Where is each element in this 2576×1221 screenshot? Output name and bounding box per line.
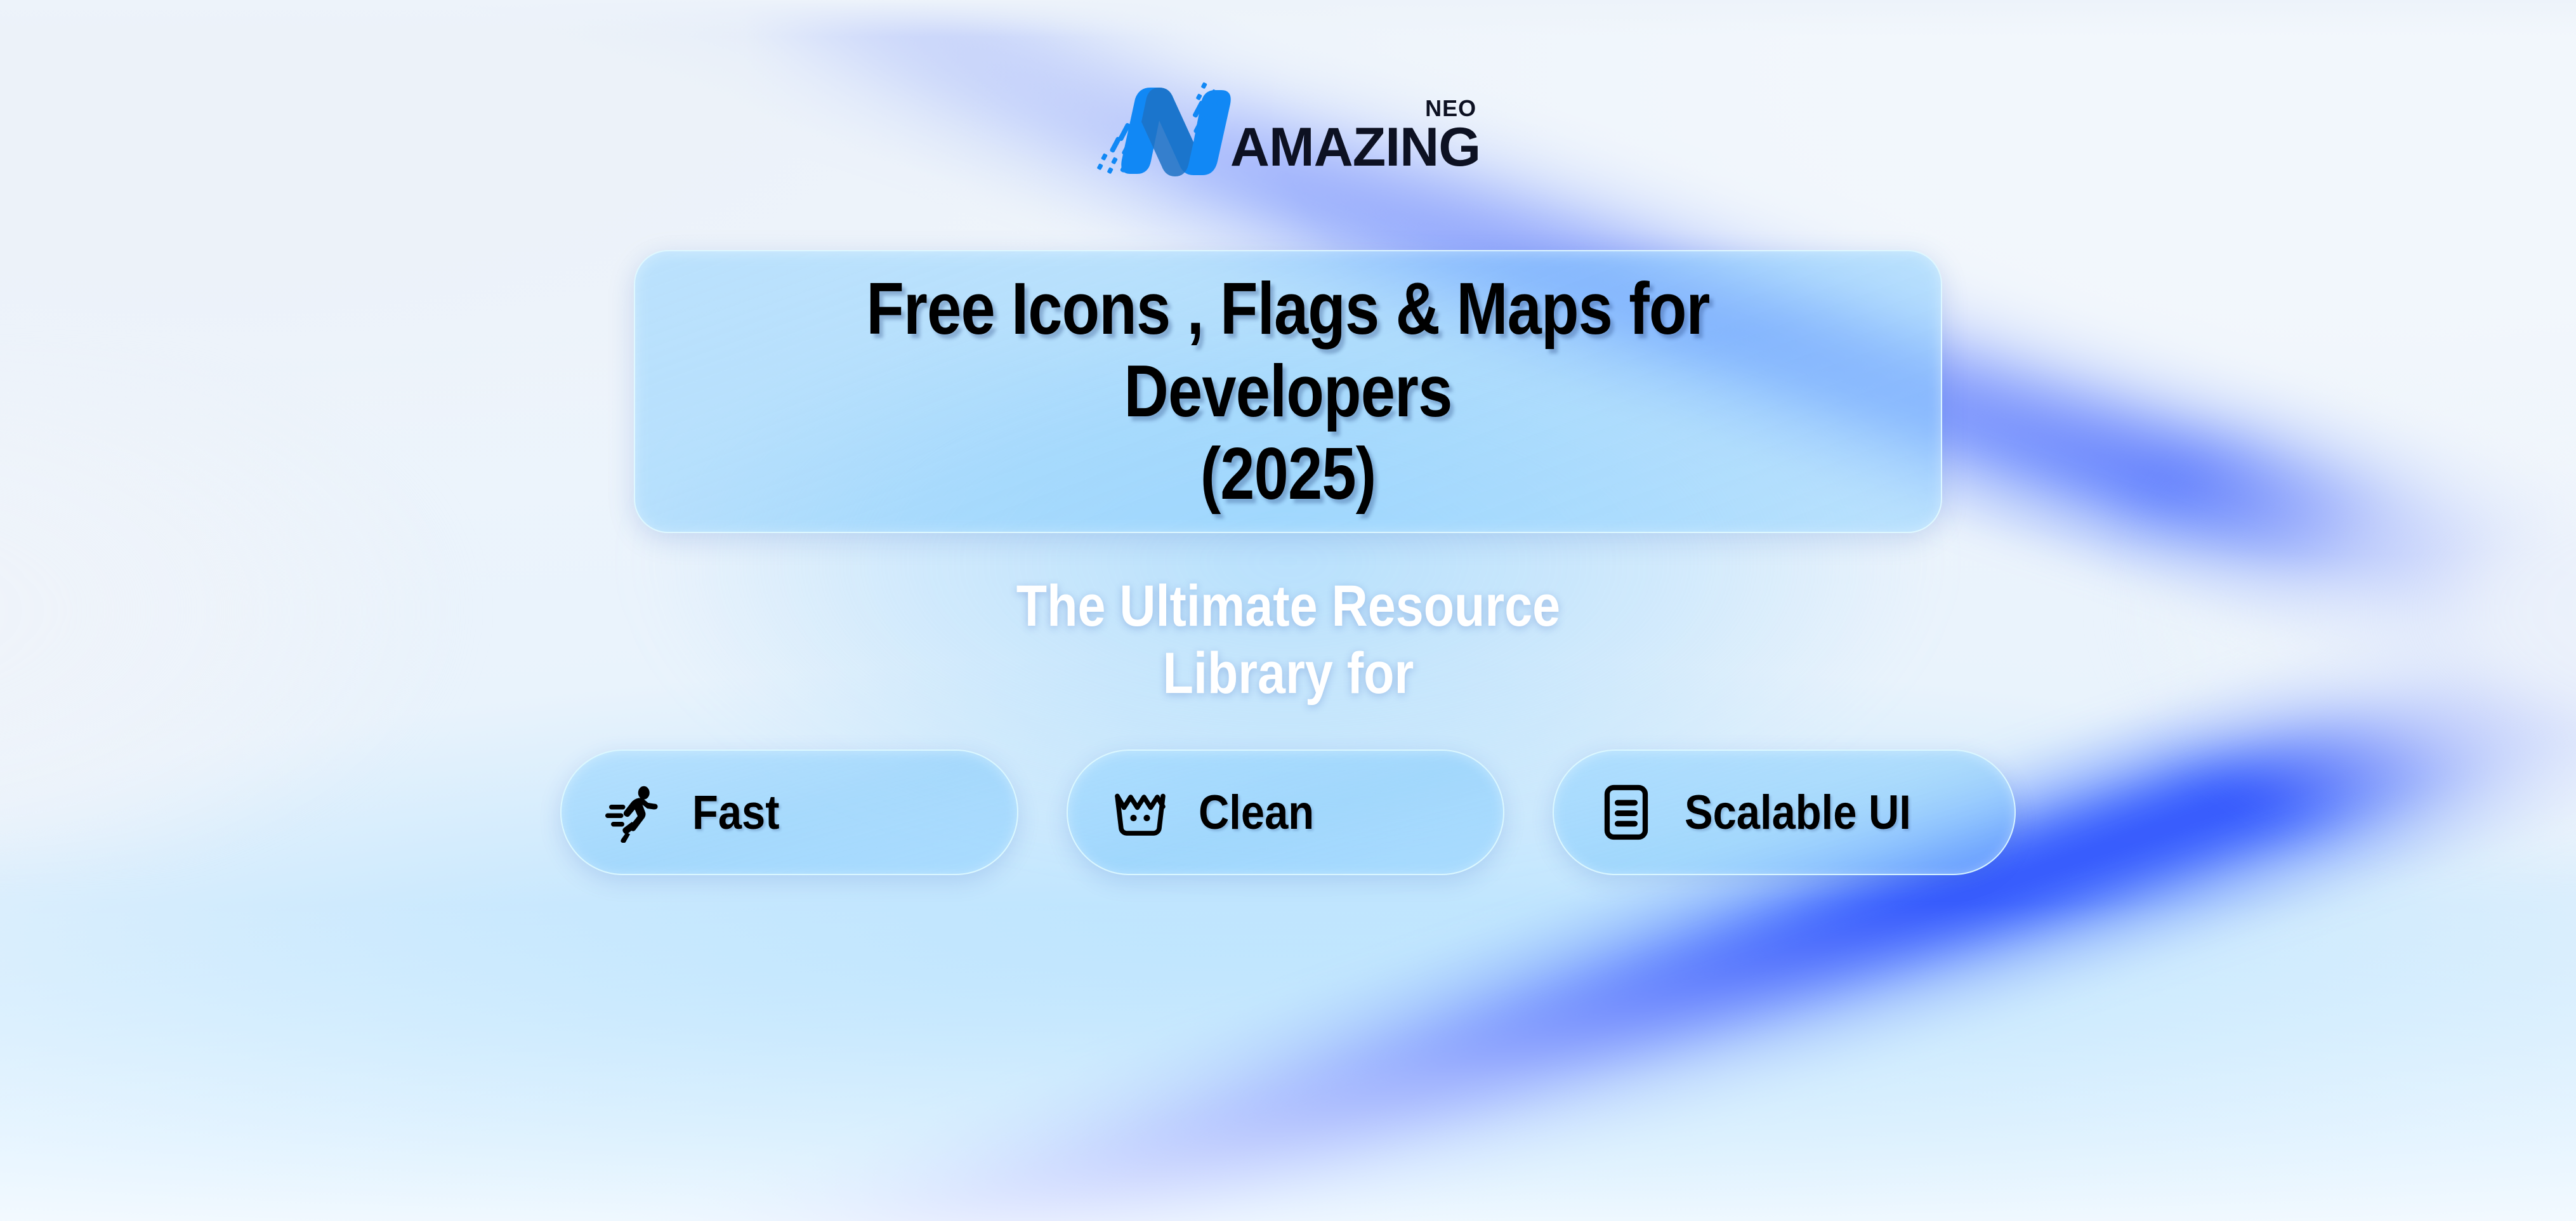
- running-person-icon: [603, 782, 664, 843]
- brand-logo[interactable]: NEO AMAZING: [1096, 75, 1480, 176]
- neo-amazing-n-logo-icon: [1096, 75, 1232, 176]
- hero-banner: NEO AMAZING Free Icons , Flags & Maps fo…: [0, 0, 2576, 1221]
- feature-pill-label: Clean: [1199, 785, 1314, 840]
- feature-pill-group: Fast Clean Scalable UI: [560, 749, 2016, 875]
- feature-pill-fast[interactable]: Fast: [560, 749, 1018, 875]
- brand-superscript: NEO: [1425, 95, 1476, 122]
- hero-subtitle: The Ultimate Resource Library for: [1016, 572, 1560, 708]
- feature-pill-label: Fast: [692, 785, 780, 840]
- wash-basin-icon: [1110, 782, 1171, 843]
- feature-pill-clean[interactable]: Clean: [1067, 749, 1504, 875]
- brand-name: AMAZING: [1230, 117, 1480, 178]
- hero-title-card: Free Icons , Flags & Maps for Developers…: [634, 250, 1942, 533]
- feature-pill-scalable-ui[interactable]: Scalable UI: [1553, 749, 2016, 875]
- brand-wordmark: NEO AMAZING: [1230, 122, 1480, 176]
- document-list-icon: [1596, 782, 1657, 843]
- page-title: Free Icons , Flags & Maps for Developers…: [772, 268, 1804, 515]
- feature-pill-label: Scalable UI: [1685, 785, 1911, 840]
